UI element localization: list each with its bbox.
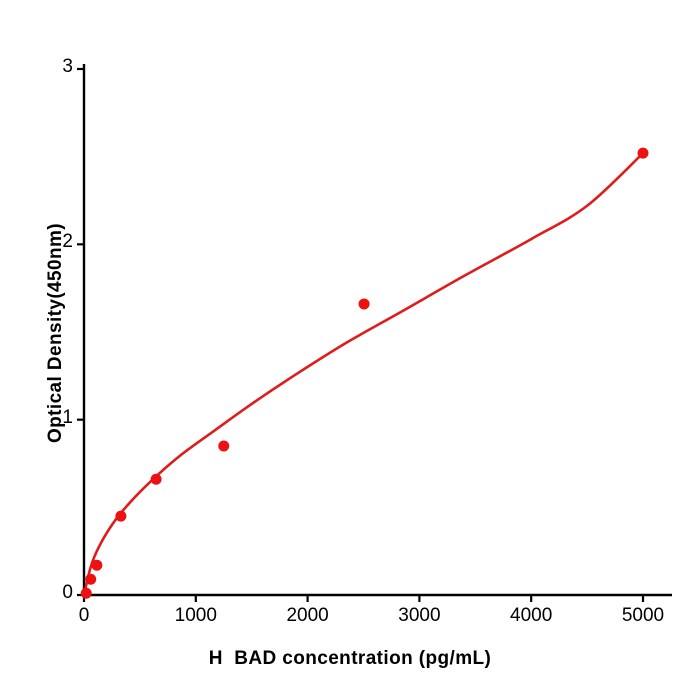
x-tick-label: 5000 bbox=[603, 605, 683, 627]
data-points bbox=[81, 148, 649, 599]
x-tick-label: 1000 bbox=[156, 605, 236, 627]
y-tick-label: 2 bbox=[33, 231, 73, 253]
plot-area bbox=[0, 0, 700, 700]
x-axis-title: H BAD concentration (pg/mL) bbox=[0, 648, 700, 670]
data-point bbox=[218, 440, 229, 451]
fit-curve bbox=[84, 153, 643, 595]
chart-container: H BAD concentration (pg/mL) Optical Dens… bbox=[0, 0, 700, 700]
y-tick-label: 0 bbox=[33, 582, 73, 604]
data-point bbox=[91, 560, 102, 571]
y-tick-label: 3 bbox=[33, 56, 73, 78]
y-axis-title: Optical Density(450nm) bbox=[45, 143, 67, 523]
data-point bbox=[638, 148, 649, 159]
data-point bbox=[115, 511, 126, 522]
data-point bbox=[85, 574, 96, 585]
x-tick-label: 4000 bbox=[491, 605, 571, 627]
data-point bbox=[81, 588, 92, 599]
axis-lines bbox=[84, 64, 672, 595]
data-point bbox=[359, 298, 370, 309]
x-tick-label: 3000 bbox=[379, 605, 459, 627]
x-tick-label: 2000 bbox=[268, 605, 348, 627]
data-point bbox=[151, 474, 162, 485]
y-tick-label: 1 bbox=[33, 407, 73, 429]
x-tick-label: 0 bbox=[44, 605, 124, 627]
